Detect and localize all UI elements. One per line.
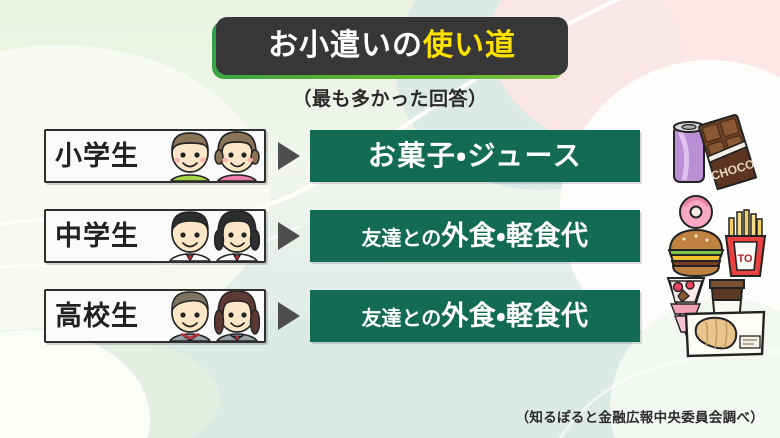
- title-box: お小遣いの使い道: [216, 17, 568, 75]
- row-label-text: 中学生: [46, 223, 139, 250]
- answer-main-text: お菓子・ジュース: [368, 139, 582, 172]
- answer-main-text: 外食・軽食代: [441, 301, 588, 332]
- title-plain-text: お小遣いの: [268, 28, 423, 63]
- answer-text: 友達との外食・軽食代: [362, 303, 589, 330]
- answer-box: 友達との外食・軽食代: [310, 290, 640, 342]
- row-label-box: 小学生: [44, 129, 266, 183]
- table-row: 小学生: [44, 129, 744, 183]
- answer-box: お菓子・ジュース: [310, 130, 640, 182]
- answer-main-text: 外食・軽食代: [441, 221, 588, 252]
- fries-cup-label: TO: [737, 253, 753, 265]
- elementary-students-avatar: [167, 129, 260, 181]
- answer-text: お菓子・ジュース: [368, 142, 582, 170]
- crepe-coffee-croissant-icon: Coffee: [656, 272, 768, 358]
- arrow-right-icon: [278, 222, 300, 250]
- table-row: 高校生: [44, 289, 744, 343]
- subtitle: （最も多かった回答）: [0, 84, 780, 111]
- infographic-canvas: お小遣いの使い道 （最も多かった回答） 小学生: [0, 0, 780, 438]
- answer-lead-text: 友達との: [362, 226, 442, 250]
- source-credit: （知るぽると金融広報中央委員会調べ）: [516, 406, 764, 426]
- arrow-right-icon: [278, 302, 300, 330]
- table-row: 中学生: [44, 209, 744, 263]
- juice-can-and-chocolate-icon: CHOCO: [664, 112, 776, 198]
- title-banner: お小遣いの使い道: [216, 17, 568, 75]
- arrow-right-icon: [278, 142, 300, 170]
- row-label-text: 高校生: [46, 303, 139, 330]
- row-label-box: 高校生: [44, 289, 266, 343]
- answer-lead-text: 友達との: [362, 306, 442, 330]
- answer-box: 友達との外食・軽食代: [310, 210, 640, 262]
- high-school-students-avatar: [167, 289, 260, 341]
- row-label-box: 中学生: [44, 209, 266, 263]
- junior-high-students-avatar: [167, 209, 260, 261]
- answer-text: 友達との外食・軽食代: [362, 223, 589, 250]
- background-blob-white-bottom-left: [0, 330, 150, 438]
- background-blob-green-bottom-left: [0, 328, 220, 438]
- donut-burger-fries-icon: TO: [664, 194, 776, 280]
- title-highlight-text: 使い道: [423, 28, 516, 63]
- row-label-text: 小学生: [46, 143, 139, 170]
- page-title: お小遣いの使い道: [268, 31, 516, 61]
